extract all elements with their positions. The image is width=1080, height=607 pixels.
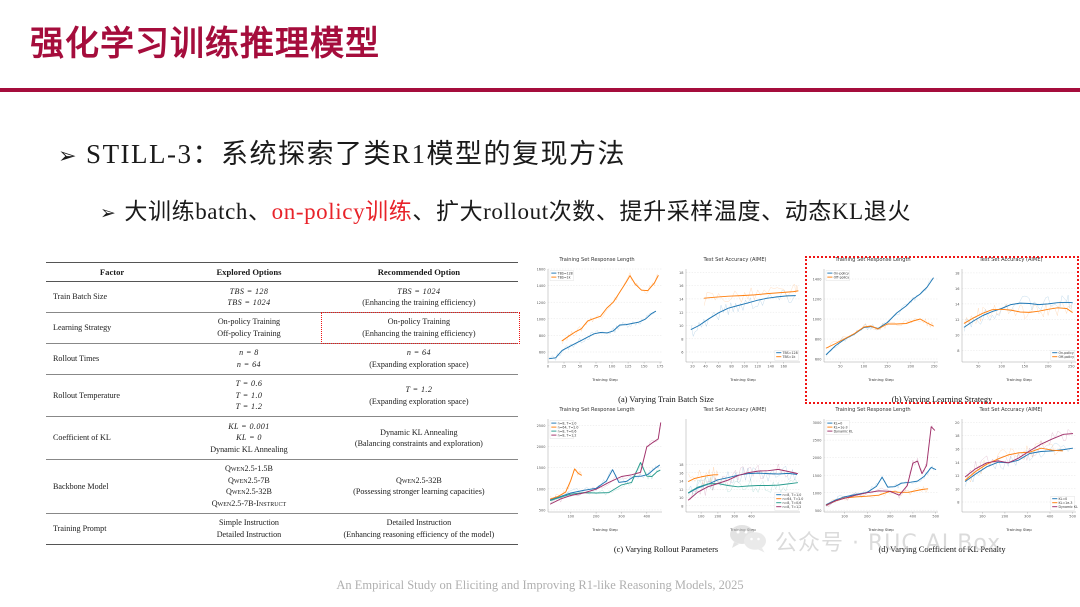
svg-text:Training Step: Training Step xyxy=(729,527,756,532)
cell-recommended-option: Dynamic KL Annealing(Balancing constrain… xyxy=(320,417,518,459)
cell-recommended-option-highlighted: On-policy Training(Enhancing the trainin… xyxy=(320,312,518,343)
col-header-explored: Explored Options xyxy=(178,263,320,282)
title-divider xyxy=(0,88,1080,92)
bullet-marker-icon: ➢ xyxy=(58,143,78,169)
bullet-level2-highlight: on-policy训练 xyxy=(272,199,413,224)
svg-text:100: 100 xyxy=(698,515,705,519)
svg-text:TBS=1k: TBS=1k xyxy=(782,355,796,359)
cell-explored-options: T = 0.6T = 1.0T = 1.2 xyxy=(178,374,320,416)
cell-factor: Backbone Model xyxy=(46,459,178,513)
svg-text:125: 125 xyxy=(625,365,632,369)
plot-b-length: Training Set Response Length600800100012… xyxy=(804,256,942,382)
panel-c-plots: Training Set Response Length500100015002… xyxy=(528,406,804,532)
footer-citation: An Empirical Study on Eliciting and Impr… xyxy=(0,578,1080,593)
svg-text:16: 16 xyxy=(955,448,959,452)
plot-d-length: Training Set Response Length500100015002… xyxy=(804,406,942,532)
svg-text:6: 6 xyxy=(681,351,683,355)
table-row: Rollout Timesn = 8n = 64n = 64(Expanding… xyxy=(46,343,518,374)
cell-explored-options: KL = 0.001KL = 0Dynamic KL Annealing xyxy=(178,417,320,459)
svg-text:1000: 1000 xyxy=(813,318,822,322)
plot-b-accuracy: Test Set Accuracy (AIME)8101214161850100… xyxy=(942,256,1080,382)
svg-text:500: 500 xyxy=(1069,515,1076,519)
svg-text:300: 300 xyxy=(1024,515,1031,519)
svg-text:TBS=1k: TBS=1k xyxy=(557,275,571,279)
col-header-recommended: Recommended Option xyxy=(320,263,518,282)
table-row: Coefficient of KLKL = 0.001KL = 0Dynamic… xyxy=(46,417,518,459)
figure-panel-b: Training Set Response Length600800100012… xyxy=(804,256,1080,406)
svg-text:18: 18 xyxy=(679,463,683,467)
svg-text:Training Step: Training Step xyxy=(591,377,618,382)
svg-text:8: 8 xyxy=(681,504,683,508)
svg-text:12: 12 xyxy=(679,488,683,492)
cell-recommended-option: n = 64(Expanding exploration space) xyxy=(320,343,518,374)
cell-recommended-option: Detailed Instruction(Enhancing reasoning… xyxy=(320,513,518,544)
svg-text:0: 0 xyxy=(547,365,549,369)
svg-text:Training Step: Training Step xyxy=(1005,377,1032,382)
panel-caption: (d) Varying Coefficient of KL Penalty xyxy=(804,545,1080,554)
svg-text:175: 175 xyxy=(657,365,664,369)
svg-text:3000: 3000 xyxy=(813,421,822,425)
svg-text:150: 150 xyxy=(884,365,891,369)
svg-text:1600: 1600 xyxy=(537,268,546,272)
col-header-factor: Factor xyxy=(46,263,178,282)
table-row: Training PromptSimple InstructionDetaile… xyxy=(46,513,518,544)
panel-caption: (b) Varying Learning Strategy xyxy=(804,395,1080,404)
svg-text:800: 800 xyxy=(539,334,546,338)
svg-text:300: 300 xyxy=(618,515,625,519)
bullet-level2: ➢大训练batch、on-policy训练、扩大rollout次数、提升采样温度… xyxy=(100,192,911,226)
svg-text:10: 10 xyxy=(955,487,959,491)
svg-text:140: 140 xyxy=(767,365,774,369)
svg-text:150: 150 xyxy=(1021,365,1028,369)
figure-panel-c: Training Set Response Length500100015002… xyxy=(528,406,804,556)
svg-text:Dynamic KL: Dynamic KL xyxy=(1059,505,1078,509)
svg-text:50: 50 xyxy=(838,365,842,369)
plot-a-length: Training Set Response Length600800100012… xyxy=(528,256,666,382)
svg-text:400: 400 xyxy=(748,515,755,519)
svg-text:Off-policy: Off-policy xyxy=(834,275,850,279)
svg-text:2000: 2000 xyxy=(537,445,546,449)
svg-text:Training Step: Training Step xyxy=(867,377,894,382)
svg-text:40: 40 xyxy=(703,365,707,369)
svg-text:Training Step: Training Step xyxy=(1005,527,1032,532)
table-row: Rollout TemperatureT = 0.6T = 1.0T = 1.2… xyxy=(46,374,518,416)
svg-text:200: 200 xyxy=(907,365,914,369)
svg-text:Training Step: Training Step xyxy=(591,527,618,532)
plot-a-accuracy: Test Set Accuracy (AIME)6810121416182040… xyxy=(666,256,804,382)
svg-text:n=8, T=1.2: n=8, T=1.2 xyxy=(558,433,577,437)
cell-factor: Rollout Times xyxy=(46,343,178,374)
svg-text:12: 12 xyxy=(955,318,959,322)
panel-b-plots: Training Set Response Length600800100012… xyxy=(804,256,1080,382)
svg-text:Off-policy: Off-policy xyxy=(1059,355,1075,359)
svg-text:1200: 1200 xyxy=(537,301,546,305)
plot-c-accuracy: Test Set Accuracy (AIME)8101214161810020… xyxy=(666,406,804,532)
cell-factor: Learning Strategy xyxy=(46,312,178,343)
bullet-level1: ➢STILL-3：系统探索了类R1模型的复现方法 xyxy=(58,132,626,171)
cell-explored-options: n = 8n = 64 xyxy=(178,343,320,374)
svg-text:500: 500 xyxy=(539,509,546,513)
svg-text:100: 100 xyxy=(979,515,986,519)
cell-factor: Coefficient of KL xyxy=(46,417,178,459)
svg-text:14: 14 xyxy=(955,303,960,307)
svg-text:1400: 1400 xyxy=(537,284,546,288)
table-header-row: Factor Explored Options Recommended Opti… xyxy=(46,263,518,282)
bullet-level2-before: 大训练batch、 xyxy=(124,199,271,224)
svg-text:60: 60 xyxy=(716,365,720,369)
svg-text:50: 50 xyxy=(578,365,582,369)
svg-text:200: 200 xyxy=(864,515,871,519)
svg-text:100: 100 xyxy=(841,515,848,519)
svg-text:10: 10 xyxy=(679,324,683,328)
svg-text:400: 400 xyxy=(643,515,650,519)
cell-factor: Rollout Temperature xyxy=(46,374,178,416)
svg-text:25: 25 xyxy=(562,365,566,369)
svg-text:10: 10 xyxy=(955,334,959,338)
plot-d-accuracy: Test Set Accuracy (AIME)8101214161820100… xyxy=(942,406,1080,532)
svg-text:100: 100 xyxy=(861,365,868,369)
svg-text:8: 8 xyxy=(957,501,959,505)
svg-text:200: 200 xyxy=(593,515,600,519)
svg-text:10: 10 xyxy=(679,496,683,500)
svg-text:20: 20 xyxy=(690,365,694,369)
svg-text:Dynamic KL: Dynamic KL xyxy=(834,429,853,433)
panel-a-plots: Training Set Response Length600800100012… xyxy=(528,256,804,382)
svg-text:1400: 1400 xyxy=(813,278,822,282)
svg-text:18: 18 xyxy=(679,271,683,275)
svg-text:300: 300 xyxy=(887,515,894,519)
svg-text:16: 16 xyxy=(679,471,683,475)
table-row: Backbone ModelQwen2.5-1.5BQwen2.5-7BQwen… xyxy=(46,459,518,513)
svg-text:16: 16 xyxy=(955,287,959,291)
svg-text:200: 200 xyxy=(1045,365,1052,369)
table-row: Learning StrategyOn-policy TrainingOff-p… xyxy=(46,312,518,343)
svg-text:250: 250 xyxy=(1068,365,1075,369)
svg-text:120: 120 xyxy=(754,365,761,369)
svg-text:500: 500 xyxy=(932,515,939,519)
svg-text:12: 12 xyxy=(955,474,959,478)
table-head: Factor Explored Options Recommended Opti… xyxy=(46,263,518,282)
svg-text:8: 8 xyxy=(681,337,683,341)
svg-text:20: 20 xyxy=(955,421,959,425)
svg-text:16: 16 xyxy=(679,284,683,288)
bullet-level1-text: STILL-3：系统探索了类R1模型的复现方法 xyxy=(86,139,626,169)
panel-d-plots: Training Set Response Length500100015002… xyxy=(804,406,1080,532)
svg-text:75: 75 xyxy=(594,365,598,369)
svg-text:1500: 1500 xyxy=(813,474,822,478)
cell-explored-options: TBS = 128TBS = 1024 xyxy=(178,282,320,313)
svg-text:400: 400 xyxy=(1047,515,1054,519)
svg-text:Training Step: Training Step xyxy=(729,377,756,382)
table-row: Train Batch SizeTBS = 128TBS = 1024TBS =… xyxy=(46,282,518,313)
svg-text:600: 600 xyxy=(539,351,546,355)
svg-text:600: 600 xyxy=(815,358,822,362)
svg-text:100: 100 xyxy=(741,365,748,369)
svg-text:500: 500 xyxy=(815,509,822,513)
cell-factor: Training Prompt xyxy=(46,513,178,544)
svg-text:14: 14 xyxy=(679,298,684,302)
svg-text:2500: 2500 xyxy=(813,439,822,443)
figure-panel-a: Training Set Response Length600800100012… xyxy=(528,256,804,406)
cell-recommended-option: Qwen2.5-32B(Possessing stronger learning… xyxy=(320,459,518,513)
svg-text:50: 50 xyxy=(976,365,980,369)
svg-text:1000: 1000 xyxy=(537,487,546,491)
svg-text:1000: 1000 xyxy=(537,317,546,321)
svg-text:n=8, T=1.2: n=8, T=1.2 xyxy=(783,505,802,509)
svg-text:14: 14 xyxy=(679,480,684,484)
svg-text:2000: 2000 xyxy=(813,456,822,460)
bullet-marker-icon: ➢ xyxy=(100,202,116,224)
figure-grid: Training Set Response Length600800100012… xyxy=(528,256,1080,556)
svg-text:1200: 1200 xyxy=(813,298,822,302)
svg-text:Training Step: Training Step xyxy=(867,527,894,532)
svg-text:18: 18 xyxy=(955,434,959,438)
svg-text:8: 8 xyxy=(957,349,959,353)
svg-text:100: 100 xyxy=(609,365,616,369)
cell-explored-options: Qwen2.5-1.5BQwen2.5-7BQwen2.5-32BQwen2.5… xyxy=(178,459,320,513)
cell-explored-options: On-policy TrainingOff-policy Training xyxy=(178,312,320,343)
svg-text:100: 100 xyxy=(998,365,1005,369)
panel-caption: (a) Varying Train Batch Size xyxy=(528,395,804,404)
page-title: 强化学习训练推理模型 xyxy=(30,16,380,65)
svg-text:160: 160 xyxy=(780,365,787,369)
svg-text:200: 200 xyxy=(1002,515,1009,519)
cell-factor: Train Batch Size xyxy=(46,282,178,313)
svg-text:800: 800 xyxy=(815,338,822,342)
svg-text:18: 18 xyxy=(955,272,959,276)
panel-caption: (c) Varying Rollout Parameters xyxy=(528,545,804,554)
svg-text:1000: 1000 xyxy=(813,491,822,495)
cell-recommended-option: T = 1.2(Expanding exploration space) xyxy=(320,374,518,416)
svg-text:1500: 1500 xyxy=(537,466,546,470)
factor-recommendation-table: Factor Explored Options Recommended Opti… xyxy=(46,262,518,545)
bullet-level2-after: 、扩大rollout次数、提升采样温度、动态KL退火 xyxy=(412,199,911,224)
svg-text:300: 300 xyxy=(731,515,738,519)
svg-text:250: 250 xyxy=(931,365,938,369)
cell-explored-options: Simple InstructionDetailed Instruction xyxy=(178,513,320,544)
svg-text:14: 14 xyxy=(955,461,960,465)
figure-panel-d: Training Set Response Length500100015002… xyxy=(804,406,1080,556)
svg-text:2500: 2500 xyxy=(537,424,546,428)
svg-text:12: 12 xyxy=(679,311,683,315)
svg-text:100: 100 xyxy=(567,515,574,519)
svg-text:400: 400 xyxy=(910,515,917,519)
cell-recommended-option: TBS = 1024(Enhancing the training effici… xyxy=(320,282,518,313)
svg-text:200: 200 xyxy=(715,515,722,519)
plot-c-length: Training Set Response Length500100015002… xyxy=(528,406,666,532)
svg-text:80: 80 xyxy=(729,365,733,369)
table-body: Train Batch SizeTBS = 128TBS = 1024TBS =… xyxy=(46,282,518,545)
svg-text:150: 150 xyxy=(641,365,648,369)
